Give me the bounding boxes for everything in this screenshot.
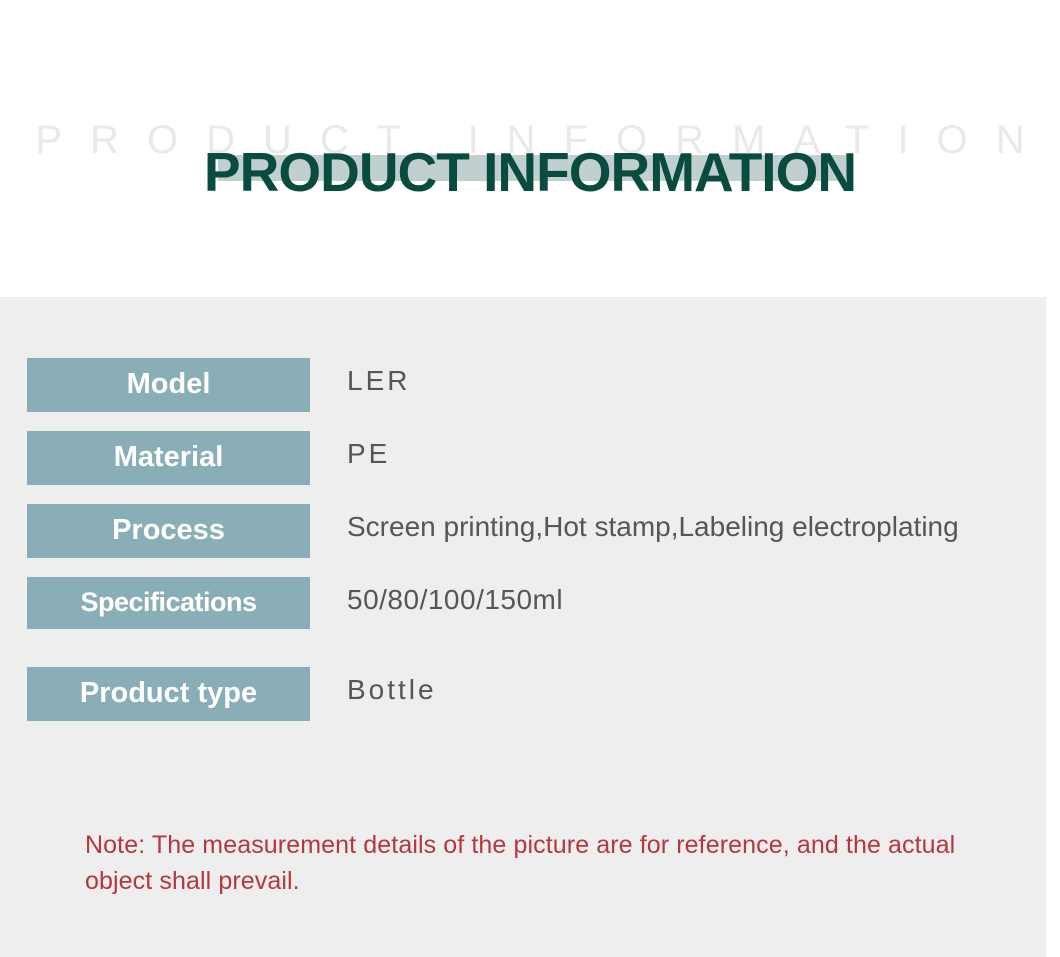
product-information-page: PRODUCT INFORMATION PRODUCT INFORMATION … <box>0 0 1060 957</box>
specs-panel: Model LER Material PE Process Screen pri… <box>0 297 1046 957</box>
spec-value-material: PE <box>310 431 1017 474</box>
disclaimer-note: Note: The measurement details of the pic… <box>85 828 980 899</box>
table-row: Model LER <box>27 358 1017 412</box>
spec-value-model: LER <box>310 358 1017 401</box>
table-row: Specifications 50/80/100/150ml <box>27 577 1017 629</box>
table-row: Material PE <box>27 431 1017 485</box>
page-header: PRODUCT INFORMATION PRODUCT INFORMATION <box>0 0 1060 297</box>
spec-label-material: Material <box>27 431 310 485</box>
page-title: PRODUCT INFORMATION <box>0 140 1060 204</box>
table-row: Process Screen printing,Hot stamp,Labeli… <box>27 504 1017 558</box>
spec-label-model: Model <box>27 358 310 412</box>
spec-value-process: Screen printing,Hot stamp,Labeling elect… <box>310 504 1017 547</box>
spec-label-process: Process <box>27 504 310 558</box>
spec-label-specifications: Specifications <box>27 577 310 629</box>
spec-label-product-type: Product type <box>27 667 310 721</box>
spec-table: Model LER Material PE Process Screen pri… <box>27 358 1017 740</box>
table-row: Product type Bottle <box>27 667 1017 721</box>
spec-value-specifications: 50/80/100/150ml <box>310 577 1017 620</box>
spec-value-product-type: Bottle <box>310 667 1017 710</box>
